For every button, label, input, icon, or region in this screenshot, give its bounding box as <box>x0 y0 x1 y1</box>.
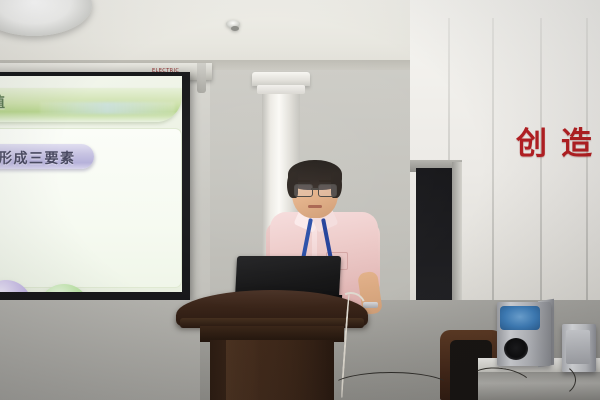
slide-banner-title: 顾客价格形成三要素 <box>0 148 76 168</box>
panel-seam <box>540 18 542 308</box>
panel-seam <box>586 18 588 308</box>
glasses-bridge <box>311 188 318 190</box>
satellite-speaker-grill <box>566 330 590 364</box>
glasses-icon <box>318 184 337 197</box>
column-capital <box>252 72 310 86</box>
slide-header-band <box>0 88 182 122</box>
wall-banner-text: 创造 <box>516 118 600 163</box>
panel-seam <box>492 18 494 308</box>
slide-glare <box>40 102 175 114</box>
roller-bracket <box>197 63 206 93</box>
recessed-downlight <box>231 26 239 31</box>
subwoofer-face-panel <box>500 306 540 330</box>
floor-cable <box>330 372 452 400</box>
column-capital-ring <box>257 85 305 94</box>
glasses-icon <box>294 184 313 197</box>
lecture-room-photo: 创造 ELECTRIC 部的价值 顾客价格形成三要素 经验 企业信息 竞手价格 <box>0 0 600 400</box>
projection-screen: 部的价值 顾客价格形成三要素 经验 企业信息 竞手价格 <box>0 76 182 292</box>
slide-banner: 顾客价格形成三要素 <box>0 144 94 169</box>
speaker-cable <box>524 362 576 398</box>
slide-header-title: 部的价值 <box>0 92 6 112</box>
subwoofer-port <box>504 338 528 360</box>
floor-left <box>0 300 200 400</box>
podium-highlight <box>226 340 260 400</box>
presenter-mouth <box>308 205 322 208</box>
